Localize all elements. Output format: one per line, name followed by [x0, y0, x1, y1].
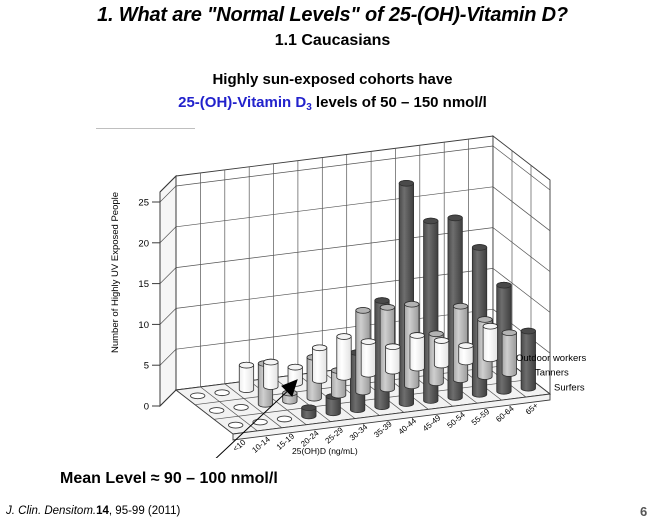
lead-text-line-2: 25-(OH)-Vitamin D3 levels of 50 – 150 nm…	[0, 94, 665, 113]
lead-text-line-1: Highly sun-exposed cohorts have	[0, 71, 665, 88]
series-label-outdoor-workers: Outdoor workers	[516, 353, 586, 364]
citation: J. Clin. Densitom.14, 95-99 (2011)	[6, 505, 180, 517]
y-axis-title: Number of Highly UV Exposed People	[110, 192, 121, 353]
y-tick-label: 15	[138, 279, 149, 290]
x-axis-title: 25(OH)D (ng/mL)	[292, 446, 358, 456]
page-subtitle: 1.1 Caucasians	[0, 32, 665, 50]
page-number: 6	[640, 504, 647, 519]
mean-level-annotation: Mean Level ≈ 90 – 100 nmol/l	[60, 470, 278, 488]
page-title: 1. What are "Normal Levels" of 25-(OH)-V…	[0, 4, 665, 27]
vitamin-d-highlight: 25-(OH)-Vitamin D	[178, 94, 306, 111]
chart-3d-bar: 0510152025 Number of Highly UV Exposed P…	[96, 128, 616, 458]
series-label-surfers: Surfers	[554, 382, 585, 393]
citation-journal: J. Clin. Densitom.	[6, 505, 96, 517]
lead-text-line-2-rest: levels of 50 – 150 nmol/l	[312, 94, 487, 111]
citation-volume: 14	[96, 505, 109, 517]
y-tick-label: 0	[144, 402, 149, 413]
y-tick-label: 20	[138, 238, 149, 249]
series-label-tanners: Tanners	[535, 368, 569, 379]
y-tick-label: 25	[138, 198, 149, 209]
y-tick-label: 5	[144, 361, 149, 372]
y-tick-label: 10	[138, 320, 149, 331]
chart-canvas: 0510152025 Number of Highly UV Exposed P…	[96, 128, 616, 458]
citation-pages: , 95-99 (2011)	[109, 505, 180, 517]
